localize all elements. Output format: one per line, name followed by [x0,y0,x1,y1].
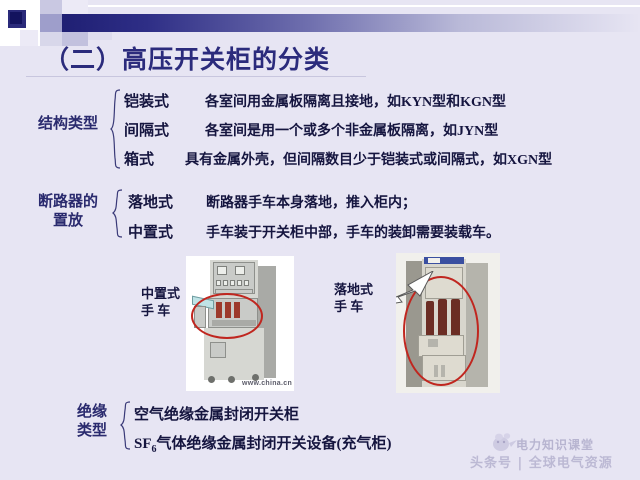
highlight-ellipse-left [191,293,263,339]
group-label-breaker-line2: 置放 [26,213,110,230]
desc-kaizhuang: 各室间用金属板隔离且接地，如KYN型和KGN型 [205,91,506,111]
watermark-top: 电力知识课堂 [516,436,594,453]
term-jiange: 间隔式 [124,119,169,140]
desc-zhongzhi: 手车装于开关柜中部，手车的装卸需要装载车。 [206,222,500,242]
photo-zhongzhi-switchgear: www.china.cn [186,256,294,391]
title-gradient-bar [38,14,640,32]
term-kaizhuang: 铠装式 [124,90,169,111]
page-title: （二）高压开关柜的分类 [44,40,330,76]
photo-luodi-switchgear [396,253,500,393]
desc-sf6-insulated: SF6气体绝缘金属封闭开关设备(充气柜) [134,432,392,455]
group-label-breaker-line1: 断路器的 [26,194,110,211]
title-underline [26,76,366,77]
slide-canvas: （二）高压开关柜的分类 结构类型 铠装式 各室间用金属板隔离且接地，如KYN型和… [0,0,640,480]
pointer-arrow-icon [396,271,434,305]
desc-air-insulated: 空气绝缘金属封闭开关柜 [134,403,299,424]
sf6-rest: 气体绝缘金属封闭开关设备(充气柜) [157,436,392,452]
desc-xiangshi: 具有金属外壳，但间隔数目少于铠装式或间隔式，如XGN型 [185,149,552,169]
term-xiangshi: 箱式 [124,148,154,169]
brace-breaker [110,188,124,240]
group-label-structure: 结构类型 [30,116,106,133]
term-luodi: 落地式 [128,191,173,212]
brace-structure [108,88,122,170]
caption-right-line2: 手 车 [334,298,363,315]
group-label-insulation-line1: 绝缘 [66,404,118,421]
desc-luodi: 断路器手车本身落地，推入柜内； [206,192,416,212]
photo-watermark-china-cn: www.china.cn [242,380,292,387]
sf6-prefix: SF [134,436,152,452]
desc-jiange: 各室间是用一个或多个非金属板隔离，如JYN型 [205,120,498,140]
watermark-bottom: 头条号 | 全球电气资源 [470,452,613,471]
caption-right-line1: 落地式 [334,281,373,298]
caption-left-line1: 中置式 [141,285,180,302]
term-zhongzhi: 中置式 [128,221,173,242]
brace-insulation [118,400,132,452]
group-label-insulation-line2: 类型 [66,423,118,440]
top-rule [38,5,640,7]
caption-left-line2: 手 车 [141,302,170,319]
